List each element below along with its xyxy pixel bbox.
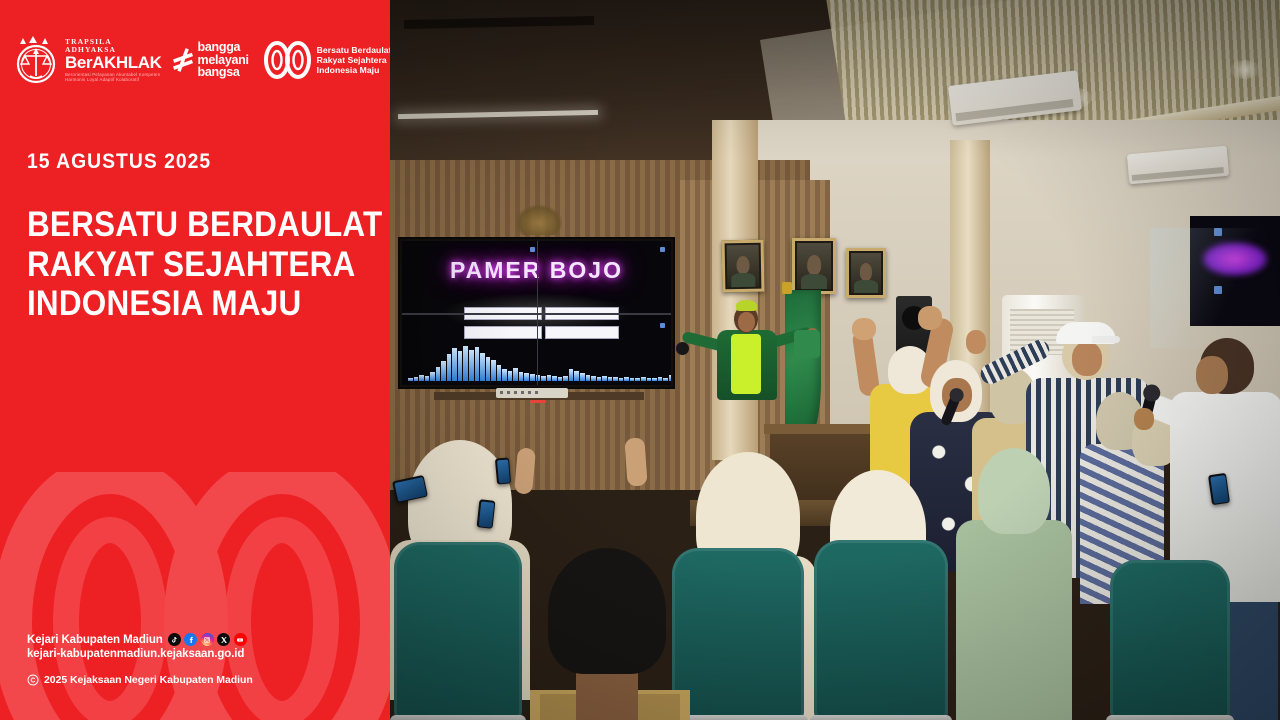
kejaksaan-emblem-icon xyxy=(14,34,60,86)
audio-spectrum-visualizer xyxy=(408,343,671,381)
social-handle-label: Kejari Kabupaten Madiun xyxy=(27,634,163,646)
headline-line-1: BERSATU BERDAULAT xyxy=(27,205,382,245)
copyright-row: 2025 Kejaksaan Negeri Kabupaten Madiun xyxy=(27,674,253,686)
logo-bangga-melayani-bangsa: bangga melayani bangsa xyxy=(172,41,249,79)
copyright-icon xyxy=(27,674,39,686)
av-receiver xyxy=(496,388,568,398)
banquet-chair xyxy=(1110,560,1230,720)
attendee-body xyxy=(956,520,1072,720)
downlight xyxy=(1230,60,1260,79)
attendee-hijab xyxy=(978,448,1050,534)
headline-line-3: INDONESIA MAJU xyxy=(27,284,382,324)
anniversary-line-3: Indonesia Maju xyxy=(317,65,390,75)
tv-screen: PAMER BOJO xyxy=(402,241,671,385)
social-handle-row: Kejari Kabupaten Madiun xyxy=(27,633,253,646)
kejaksaan-wordmark: TRAPSILA ADHYAKSA BerAKHLAK Berorientasi… xyxy=(65,38,162,82)
framed-portrait xyxy=(792,238,836,294)
smartphone-recording xyxy=(477,499,496,529)
framed-portrait xyxy=(846,248,886,298)
eighty-number-icon xyxy=(263,40,311,80)
bangga-line-1: bangga xyxy=(198,41,249,54)
singer-microphone xyxy=(676,342,689,355)
flag-finial xyxy=(782,282,792,294)
berakhlak-tagline-2: Harmonis Loyal Adaptif Kolaboratif xyxy=(65,78,162,82)
light-reflection xyxy=(1150,228,1280,348)
anniversary-line-1: Bersatu Berdaulat xyxy=(317,45,390,55)
anniversary-line-2: Rakyat Sejahtera xyxy=(317,55,390,65)
logo-strip: TRAPSILA ADHYAKSA BerAKHLAK Berorientasi… xyxy=(14,34,390,86)
instagram-icon[interactable] xyxy=(201,633,214,646)
lyric-box xyxy=(545,326,619,339)
website-url[interactable]: kejari-kabupatenmadiun.kejaksaan.go.id xyxy=(27,648,253,660)
av-indicator-light xyxy=(530,400,546,403)
bangga-wordmark: bangga melayani bangsa xyxy=(198,41,249,79)
event-photograph: PAMER BOJO xyxy=(390,0,1280,720)
attendee-face xyxy=(1196,356,1228,394)
green-flag xyxy=(785,290,821,440)
screen-indicator xyxy=(660,323,665,328)
poster-canvas: TRAPSILA ADHYAKSA BerAKHLAK Berorientasi… xyxy=(0,0,1280,720)
headline-line-2: RAKYAT SEJAHTERA xyxy=(27,245,382,285)
screen-indicator xyxy=(660,247,665,252)
social-icon-group xyxy=(168,633,247,646)
tiktok-icon[interactable] xyxy=(168,633,181,646)
anniversary-tagline: Bersatu Berdaulat Rakyat Sejahtera Indon… xyxy=(317,45,390,75)
attendee-face xyxy=(1072,342,1102,376)
lyric-box xyxy=(464,326,542,339)
raised-hand xyxy=(918,306,942,330)
green-prop xyxy=(794,330,820,358)
white-cap xyxy=(1056,322,1116,344)
not-equal-icon xyxy=(172,45,194,75)
red-info-panel: TRAPSILA ADHYAKSA BerAKHLAK Berorientasi… xyxy=(0,0,390,720)
bangga-line-3: bangsa xyxy=(198,66,249,79)
raised-hand xyxy=(852,318,876,340)
screen-indicator xyxy=(530,247,535,252)
raised-hand xyxy=(624,437,647,486)
headline-block: BERSATU BERDAULAT RAKYAT SEJAHTERA INDON… xyxy=(27,205,390,324)
banquet-chair xyxy=(394,542,522,720)
singer-vest xyxy=(731,334,761,394)
logo-kejaksaan: TRAPSILA ADHYAKSA BerAKHLAK Berorientasi… xyxy=(14,34,162,86)
facebook-icon[interactable] xyxy=(184,633,197,646)
event-date: 15 AGUSTUS 2025 xyxy=(27,150,211,174)
copyright-text: 2025 Kejaksaan Negeri Kabupaten Madiun xyxy=(44,674,253,686)
attendee-hand xyxy=(1134,408,1154,430)
footer-block: Kejari Kabupaten Madiun xyxy=(27,633,253,686)
singer-cap xyxy=(736,300,757,311)
garuda-emblem xyxy=(516,205,562,235)
bezel-seam xyxy=(537,241,539,385)
banquet-chair xyxy=(672,548,804,720)
berakhlak-wordmark: BerAKHLAK xyxy=(65,54,162,71)
x-icon[interactable] xyxy=(217,633,230,646)
framed-portrait xyxy=(722,240,765,293)
raised-hand xyxy=(966,330,986,354)
logo-80th-anniversary: Bersatu Berdaulat Rakyat Sejahtera Indon… xyxy=(263,40,390,80)
singer-face xyxy=(738,312,755,332)
video-wall-display: PAMER BOJO xyxy=(398,237,675,389)
youtube-icon[interactable] xyxy=(234,633,247,646)
foreground-attendee-head xyxy=(548,548,666,674)
adhyaksa-line: ADHYAKSA xyxy=(65,46,162,54)
banquet-chair xyxy=(814,540,948,720)
smartphone-recording xyxy=(495,457,511,484)
